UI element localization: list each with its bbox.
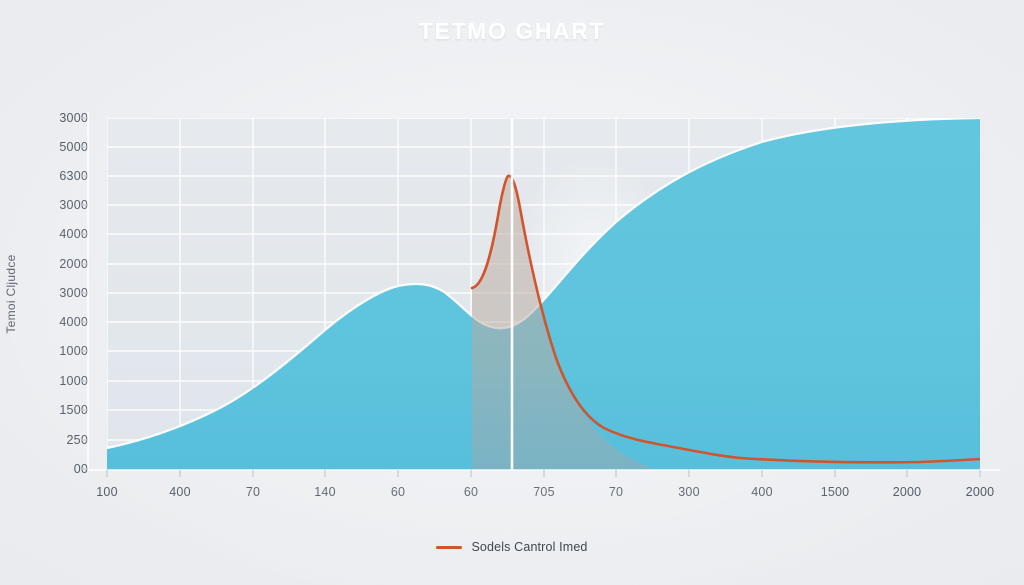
chart-canvas (0, 0, 1024, 585)
chart-legend: Sodels Cantrol Imed (0, 540, 1024, 554)
legend-item-label: Sodels Cantrol Imed (471, 540, 587, 554)
plot-area: 3000 5000 6300 3000 4000 2000 3000 4000 … (0, 0, 1024, 585)
y-tick-marks (81, 118, 88, 469)
line-marker-icon (436, 546, 462, 549)
chart-root: TETMO GHART Temoi Cljudce (0, 0, 1024, 585)
x-tick-marks (107, 470, 980, 477)
page-title: TETMO GHART (0, 18, 1024, 45)
